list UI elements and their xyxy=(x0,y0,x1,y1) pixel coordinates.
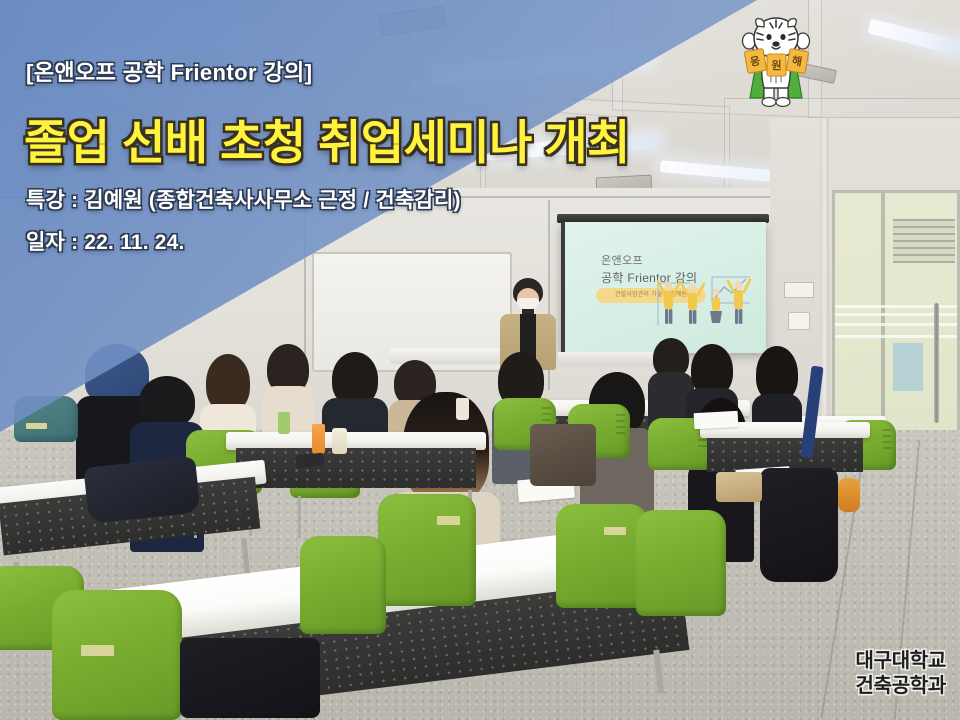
backpack xyxy=(83,456,200,523)
wall-control-panel xyxy=(784,282,814,298)
drink-bottle xyxy=(312,424,325,454)
poster-root: 온앤오프 공학 Frientor 강의 건설사업관리 기술인 김예원 xyxy=(0,0,960,720)
drink-cup xyxy=(456,398,469,420)
door-handle[interactable] xyxy=(934,303,939,423)
kicker-text: [온앤오프 공학 Frientor 강의] xyxy=(26,55,312,87)
classroom-chair[interactable] xyxy=(378,494,476,606)
classroom-chair[interactable] xyxy=(52,590,182,720)
svg-text:원: 원 xyxy=(771,58,781,72)
page-title: 졸업 선배 초청 취업세미나 개최 xyxy=(24,104,630,173)
door-window xyxy=(893,219,955,263)
white-tiger-mascot: 응 원 해 xyxy=(733,14,819,110)
credit-department: 건축공학과 xyxy=(856,674,947,700)
mascot-card-2: 원 xyxy=(767,54,786,76)
date-line: 일자 : 22. 11. 24. xyxy=(26,226,185,256)
mascot-card-3: 해 xyxy=(786,49,809,74)
credit-block: 대구대학교 건축공학과 xyxy=(856,649,947,700)
lunch-box xyxy=(716,472,762,502)
backpack xyxy=(760,468,838,582)
coat xyxy=(180,638,320,718)
handout-paper xyxy=(694,411,739,429)
backpack-charm xyxy=(838,478,860,512)
drink-cup xyxy=(332,428,347,454)
slide-line-1: 온앤오프 xyxy=(601,252,643,268)
projector-screen: 온앤오프 공학 Frientor 강의 건설사업관리 기술인 김예원 xyxy=(561,222,766,353)
light-switch xyxy=(788,312,810,330)
slide-illustration xyxy=(650,263,762,341)
coat xyxy=(530,424,596,486)
mascot-card-1: 응 xyxy=(744,48,767,73)
classroom-chair[interactable] xyxy=(300,536,386,634)
door-notice xyxy=(893,343,923,391)
classroom-chair[interactable] xyxy=(14,396,78,442)
classroom-chair[interactable] xyxy=(636,510,726,616)
lecturer-line: 특강 : 김예원 (종합건축사사무소 근정 / 건축감리) xyxy=(26,184,461,214)
drink-bottle xyxy=(278,412,290,434)
credit-university: 대구대학교 xyxy=(856,649,947,675)
classroom-chair[interactable] xyxy=(556,504,648,608)
